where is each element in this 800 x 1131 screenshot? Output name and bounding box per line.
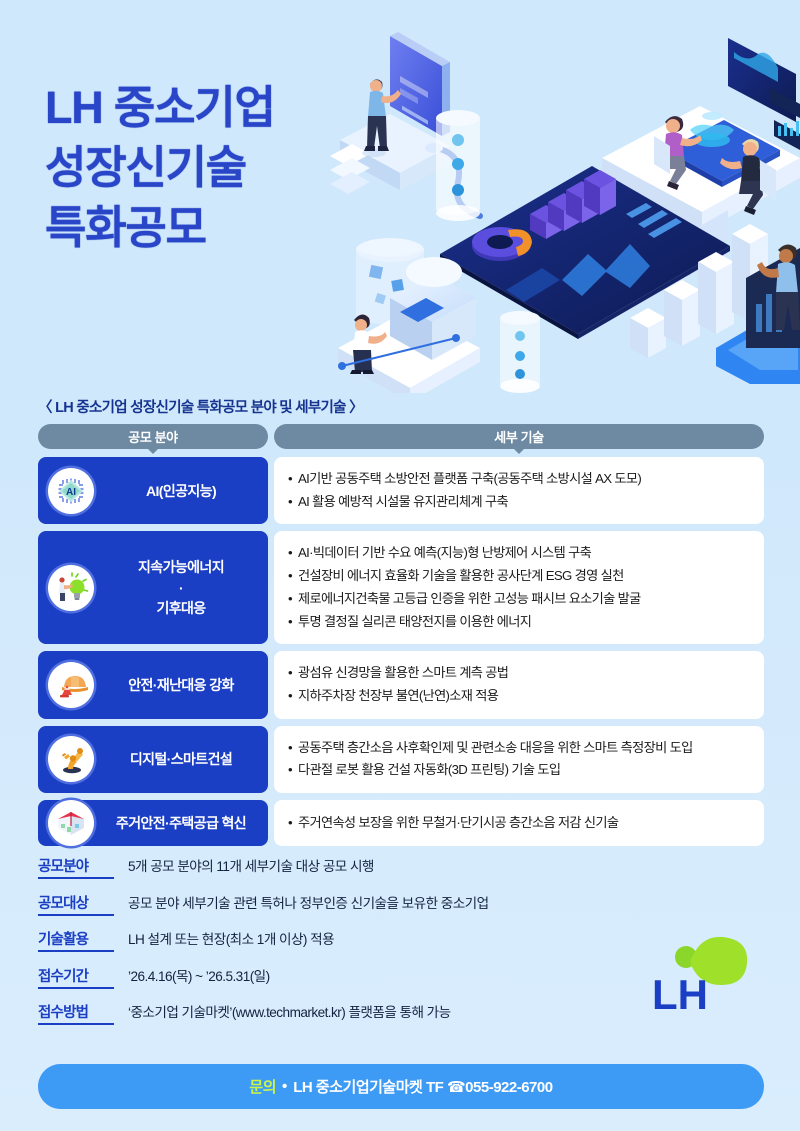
info-label: 공모대상 [38, 892, 114, 916]
category-cell: 주거안전·주택공급 혁신 [38, 800, 268, 846]
detail-item: 지하주차장 천장부 불연(난연)소재 적용 [288, 685, 750, 708]
green-lightbulb-icon [48, 565, 94, 611]
info-text: 공모 분야 세부기술 관련 특허나 정부인증 신기술을 보유한 중소기업 [128, 892, 489, 912]
detail-item: 광섬유 신경망을 활용한 스마트 계측 공법 [288, 662, 750, 685]
header-pill-field: 공모 분야 [38, 424, 268, 449]
detail-item: AI기반 공동주택 소방안전 플랫폼 구축(공동주택 소방시설 AX 도모) [288, 468, 750, 491]
category-cell: 안전·재난대응 강화 [38, 651, 268, 718]
title-line-3: 특화공모 [45, 198, 275, 258]
detail-cell: 광섬유 신경망을 활용한 스마트 계측 공법 지하주차장 천장부 불연(난연)소… [274, 651, 764, 718]
table-row: 주거안전·주택공급 혁신 주거연속성 보장을 위한 무철거·단기시공 층간소음 … [38, 800, 764, 846]
illu-capsule-top [436, 110, 480, 221]
category-cell: AI AI(인공지능) [38, 457, 268, 524]
category-cell: 지속가능에너지 · 기후대응 [38, 531, 268, 644]
category-label: 지속가능에너지 · 기후대응 [94, 557, 268, 618]
table-row: 지속가능에너지 · 기후대응 AI·빅데이터 기반 수요 예측(지능)형 난방제… [38, 531, 764, 644]
detail-item: AI 활용 예방적 시설물 유지관리체계 구축 [288, 491, 750, 514]
title-line-2: 성장신기술 [45, 138, 275, 198]
table-row: AI AI(인공지능) AI기반 공동주택 소방안전 플랫폼 구축(공동주택 소… [38, 457, 764, 524]
detail-cell: AI·빅데이터 기반 수요 예측(지능)형 난방제어 시스템 구축 건설장비 에… [274, 531, 764, 644]
contact-label: 문의 [249, 1076, 276, 1097]
section-heading: 〈 LH 중소기업 성장신기술 특화공모 분야 및 세부기술 〉 [38, 396, 363, 417]
detail-item: 주거연속성 보장을 위한 무철거·단기시공 층간소음 저감 신기술 [288, 812, 750, 835]
table-row: 안전·재난대응 강화 광섬유 신경망을 활용한 스마트 계측 공법 지하주차장 … [38, 651, 764, 718]
poster-root: LH 중소기업 성장신기술 특화공모 〈 LH 중소기업 성장신기술 특화공모 … [0, 0, 800, 1131]
detail-cell: AI기반 공동주택 소방안전 플랫폼 구축(공동주택 소방시설 AX 도모) A… [274, 457, 764, 524]
hero-section: LH 중소기업 성장신기술 특화공모 [0, 0, 800, 400]
detail-item: AI·빅데이터 기반 수요 예측(지능)형 난방제어 시스템 구축 [288, 542, 750, 565]
info-row: 기술활용 LH 설계 또는 현장(최소 1개 이상) 적용 [38, 928, 658, 952]
info-row: 공모대상 공모 분야 세부기술 관련 특허나 정부인증 신기술을 보유한 중소기… [38, 892, 658, 916]
detail-item: 공동주택 층간소음 사후확인제 및 관련소송 대응을 위한 스마트 측정장비 도… [288, 737, 750, 760]
info-row: 접수방법 ‘중소기업 기술마켓’(www.techmarket.kr) 플랫폼을… [38, 1001, 658, 1025]
table-header-row: 공모 분야 세부 기술 [38, 424, 764, 449]
lh-logo: LH [646, 933, 758, 1013]
category-label: 주거안전·주택공급 혁신 [94, 813, 268, 833]
contact-footer[interactable]: 문의 • LH 중소기업기술마켓 TF ☎055-922-6700 [38, 1064, 764, 1109]
logo-text: LH [652, 971, 708, 1013]
house-icon [48, 800, 94, 846]
detail-cell: 공동주택 층간소음 사후확인제 및 관련소송 대응을 위한 스마트 측정장비 도… [274, 726, 764, 793]
illu-capsule-bottom [500, 311, 540, 393]
info-list: 공모분야 5개 공모 분야의 11개 세부기술 대상 공모 시행 공모대상 공모… [38, 855, 658, 1038]
contact-separator: • [282, 1078, 287, 1095]
info-text: LH 설계 또는 현장(최소 1개 이상) 적용 [128, 928, 334, 948]
robot-arm-icon [48, 736, 94, 782]
header-pill-detail: 세부 기술 [274, 424, 764, 449]
info-row: 접수기간 ’26.4.16(목) ~ ’26.5.31(일) [38, 965, 658, 989]
info-text: 5개 공모 분야의 11개 세부기술 대상 공모 시행 [128, 855, 374, 875]
info-label: 기술활용 [38, 928, 114, 952]
detail-item: 건설장비 에너지 효율화 기술을 활용한 공사단계 ESG 경영 실천 [288, 565, 750, 588]
title-line-1: LH 중소기업 [45, 78, 275, 138]
svg-text:AI: AI [66, 487, 76, 498]
category-label: 디지털·스마트건설 [94, 749, 268, 769]
info-label: 접수기간 [38, 965, 114, 989]
category-cell: 디지털·스마트건설 [38, 726, 268, 793]
contact-text: LH 중소기업기술마켓 TF ☎055-922-6700 [293, 1076, 552, 1097]
fields-table: 공모 분야 세부 기술 AI [38, 424, 764, 853]
info-text: ’26.4.16(목) ~ ’26.5.31(일) [128, 965, 270, 985]
isometric-tech-illustration [330, 18, 800, 393]
detail-item: 투명 결정질 실리콘 태양전지를 이용한 에너지 [288, 611, 750, 634]
detail-item: 다관절 로봇 활용 건설 자동화(3D 프린팅) 기술 도입 [288, 759, 750, 782]
detail-item: 제로에너지건축물 고등급 인증을 위한 고성능 패시브 요소기술 발굴 [288, 588, 750, 611]
info-label: 접수방법 [38, 1001, 114, 1025]
ai-chip-icon: AI [48, 468, 94, 514]
category-label: 안전·재난대응 강화 [94, 675, 268, 695]
table-row: 디지털·스마트건설 공동주택 층간소음 사후확인제 및 관련소송 대응을 위한 … [38, 726, 764, 793]
info-text: ‘중소기업 기술마켓’(www.techmarket.kr) 플랫폼을 통해 가… [128, 1001, 451, 1021]
poster-title: LH 중소기업 성장신기술 특화공모 [45, 78, 275, 258]
info-label: 공모분야 [38, 855, 114, 879]
detail-cell: 주거연속성 보장을 위한 무철거·단기시공 층간소음 저감 신기술 [274, 800, 764, 846]
category-label: AI(인공지능) [94, 481, 268, 501]
info-row: 공모분야 5개 공모 분야의 11개 세부기술 대상 공모 시행 [38, 855, 658, 879]
safety-helmet-icon [48, 662, 94, 708]
